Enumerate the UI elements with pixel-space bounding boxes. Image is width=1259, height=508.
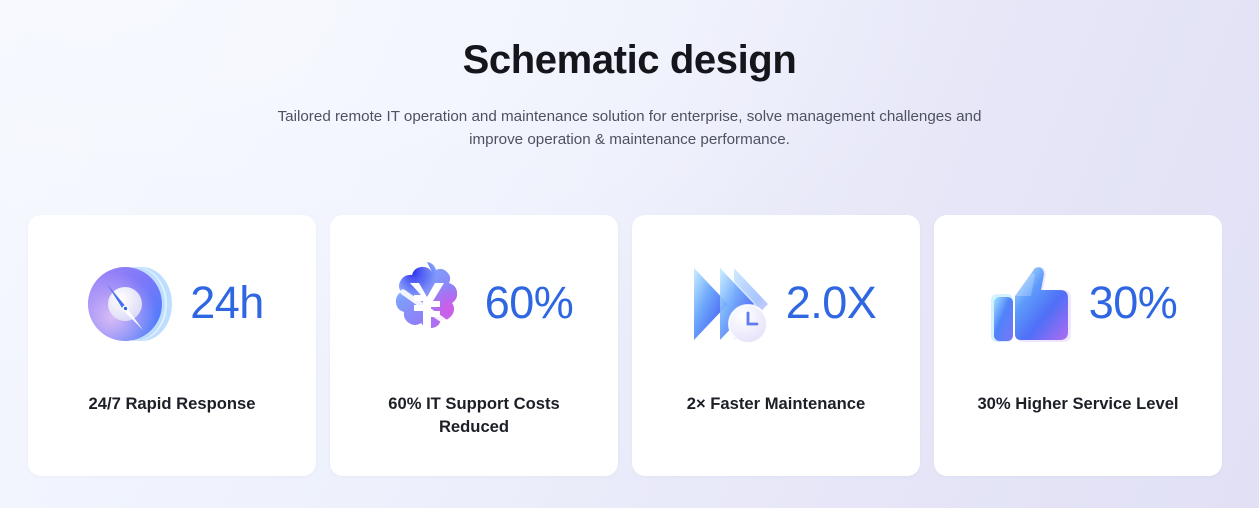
stat-card-service-level[interactable]: 30% 30% Higher Service Level xyxy=(934,215,1222,476)
stat-metric-value: 60% xyxy=(485,280,574,329)
card-icon-metric-row: 2.0X xyxy=(632,215,920,393)
page-title: Schematic design xyxy=(0,38,1259,83)
stats-card-grid: 24h 24/7 Rapid Response xyxy=(28,215,1231,476)
stat-metric-value: 2.0X xyxy=(786,280,877,329)
schematic-design-section: Schematic design Tailored remote IT oper… xyxy=(0,0,1259,508)
stat-card-faster-maintenance[interactable]: 2.0X 2× Faster Maintenance xyxy=(632,215,920,476)
card-icon-metric-row: 30% xyxy=(934,215,1222,393)
stat-card-rapid-response[interactable]: 24h 24/7 Rapid Response xyxy=(28,215,316,476)
section-heading: Schematic design Tailored remote IT oper… xyxy=(0,0,1259,152)
card-icon-metric-row: 60% xyxy=(330,215,618,393)
gear-no-cost-icon xyxy=(375,252,479,356)
stat-card-label: 60% IT Support Costs Reduced xyxy=(356,393,592,439)
fast-forward-clock-icon xyxy=(676,252,780,356)
stat-card-label: 2× Faster Maintenance xyxy=(658,393,894,416)
stat-metric-value: 30% xyxy=(1089,280,1178,329)
stat-card-support-costs[interactable]: 60% 60% IT Support Costs Reduced xyxy=(330,215,618,476)
page-subtitle: Tailored remote IT operation and mainten… xyxy=(270,105,990,152)
stat-metric-value: 24h xyxy=(190,280,264,329)
stat-card-label: 24/7 Rapid Response xyxy=(54,393,290,416)
compass-icon xyxy=(80,252,184,356)
thumbs-up-icon xyxy=(979,252,1083,356)
stat-card-label: 30% Higher Service Level xyxy=(960,393,1196,416)
card-icon-metric-row: 24h xyxy=(28,215,316,393)
